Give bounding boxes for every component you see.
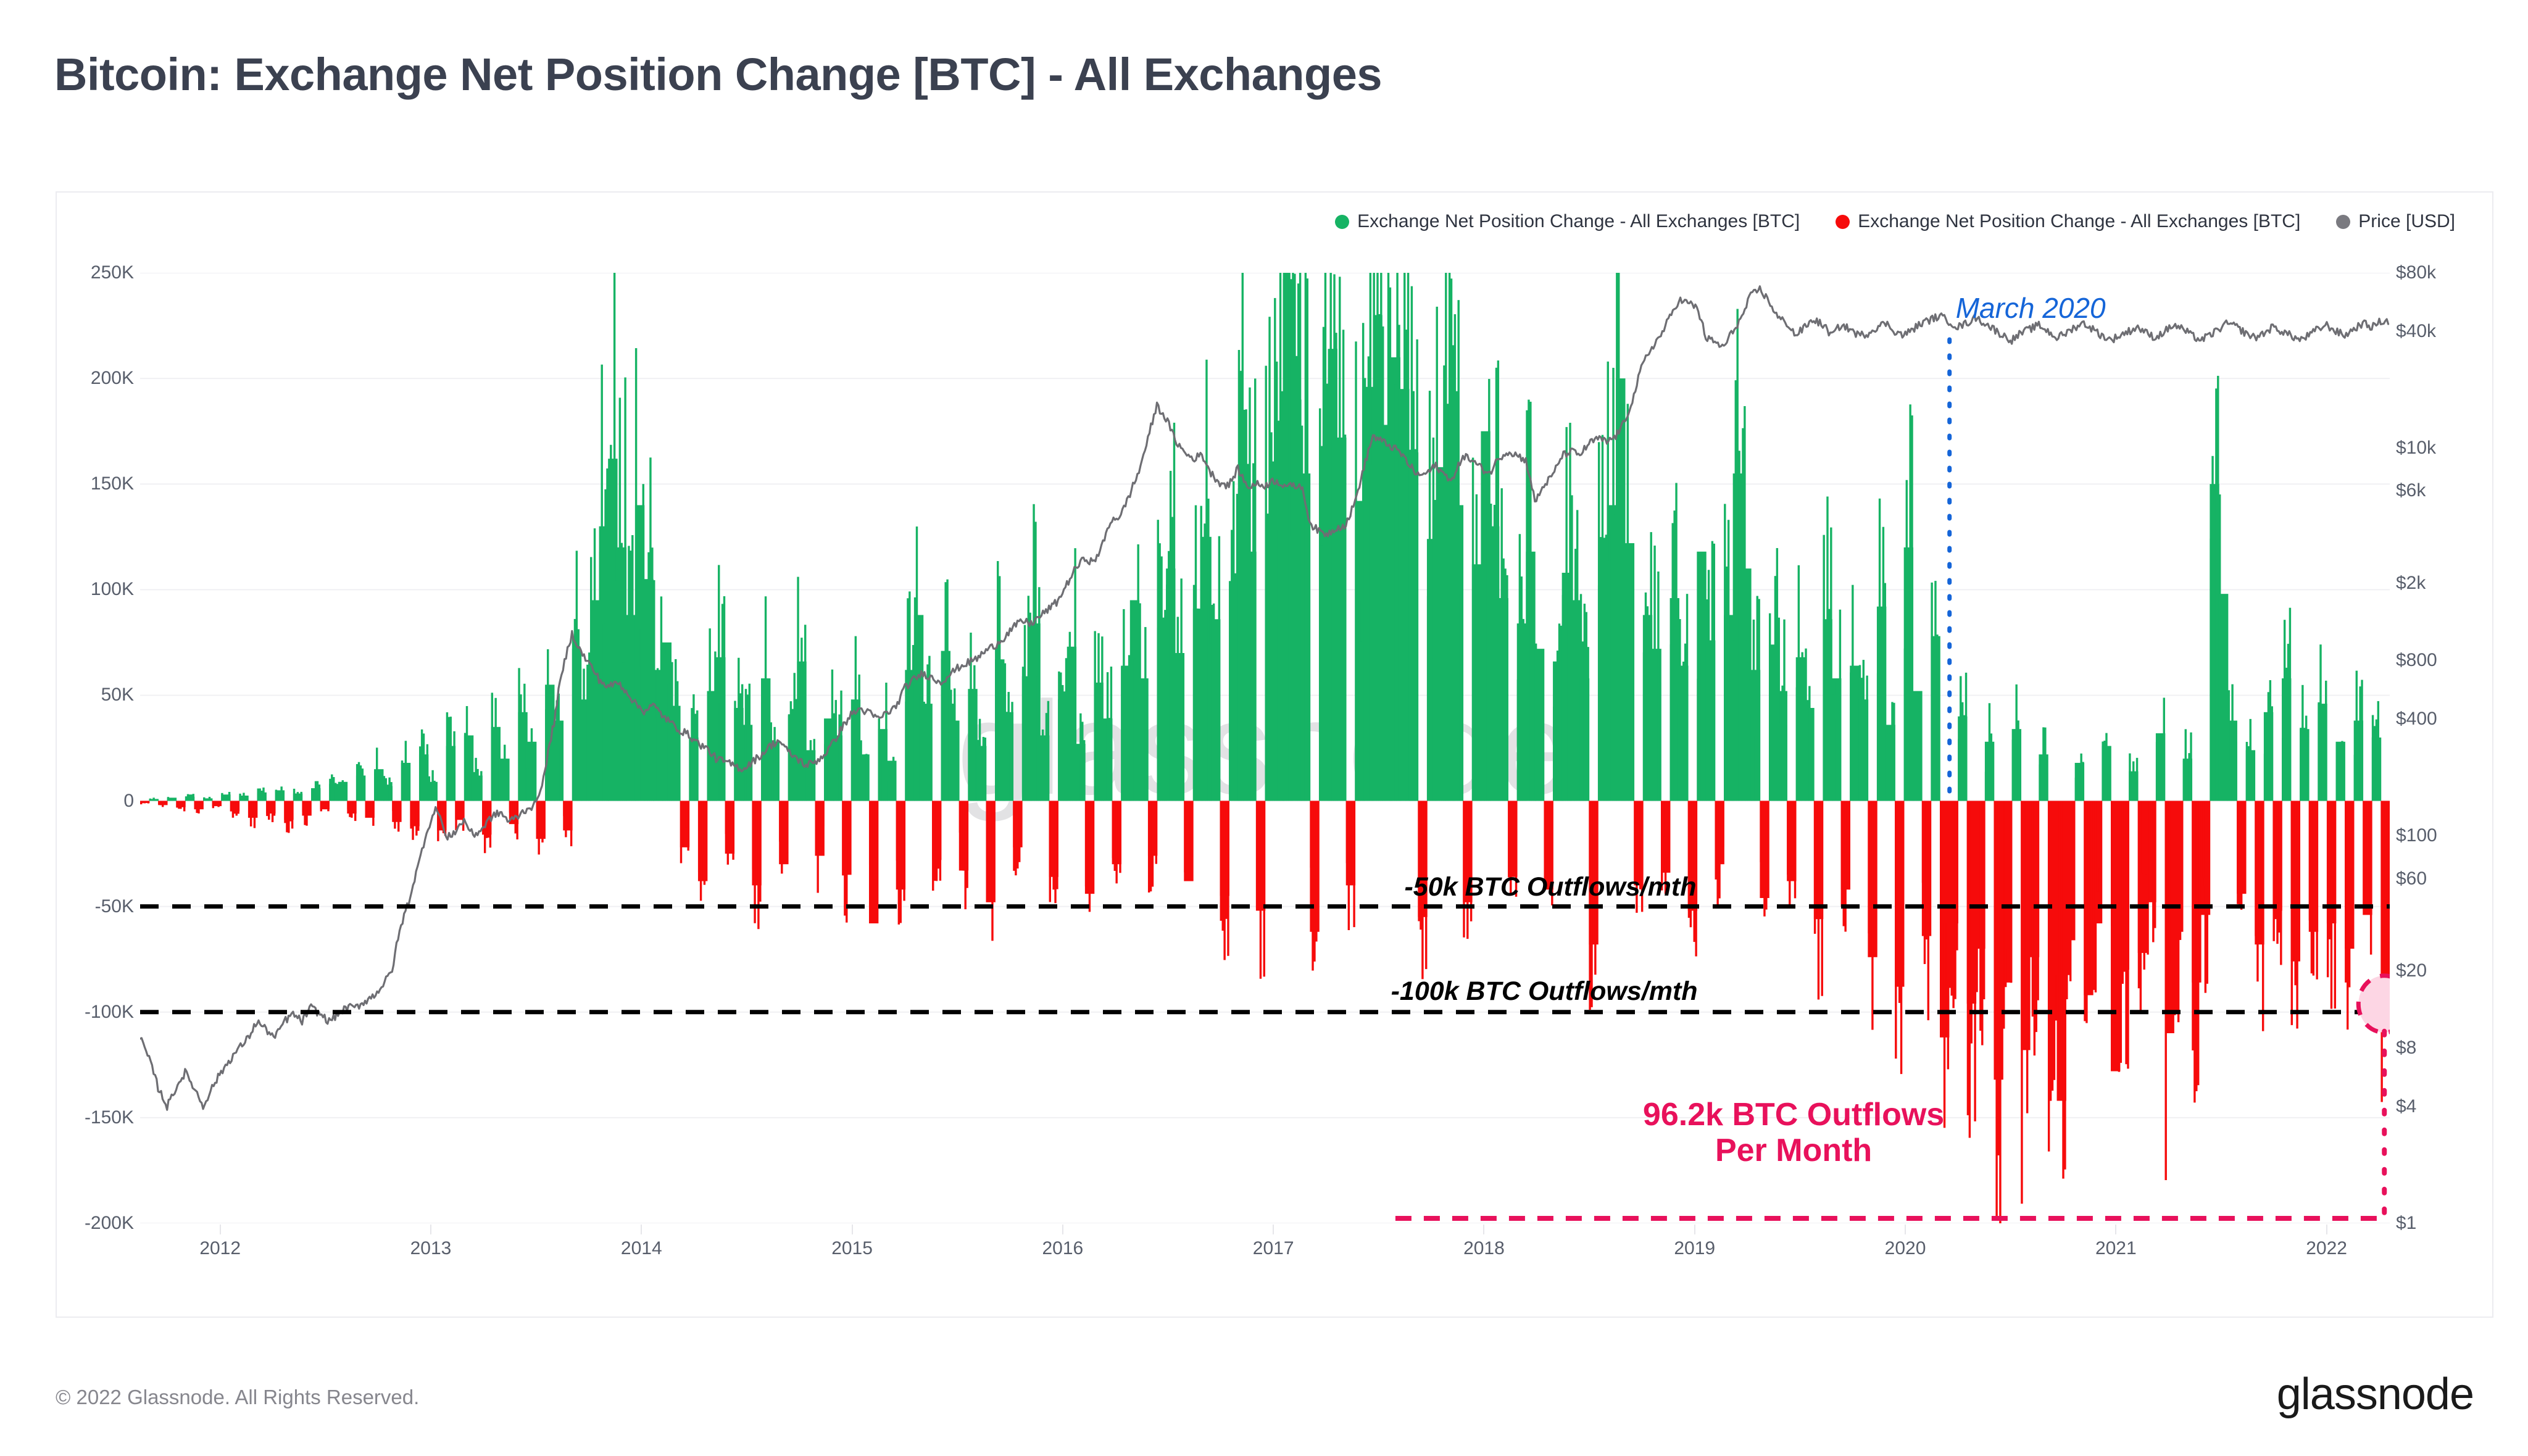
bar-detail [710,697,712,801]
y-axis-left-tick: 50K [101,684,134,705]
bar-detail [1123,609,1125,801]
legend-item[interactable]: Price [USD] [2336,211,2455,232]
bar-detail [1634,801,1636,881]
bar-detail [1063,691,1065,801]
bar-detail [995,648,997,801]
bar-detail [736,748,738,801]
bar-detail [2123,801,2125,972]
bar-detail [2060,801,2062,951]
bar-detail [2217,376,2219,801]
bar-detail [1627,404,1629,801]
bar-detail [673,741,675,801]
bar-detail [1006,712,1008,801]
bar-detail [1139,603,1141,801]
bar-detail [1931,583,1932,801]
bar-detail [1621,423,1623,801]
bar-detail [189,794,191,801]
bar-detail [2244,801,2246,857]
bar-detail [2323,741,2325,801]
bar-detail [1202,557,1204,801]
bar-detail [1034,522,1036,801]
bar-detail [1076,751,1078,801]
bar-detail [1373,273,1374,801]
bar-detail [1895,801,1897,1059]
bar-detail [686,801,688,828]
bar-detail [1902,801,1904,965]
bar-detail [1094,631,1096,801]
bar-detail [1963,715,1965,801]
bar-detail [1358,601,1360,801]
bar-detail [763,731,765,801]
bar-detail [1533,647,1535,801]
bar-detail [1103,754,1105,801]
bar-detail [272,801,273,822]
bar-detail [965,801,967,910]
bar-detail [1339,277,1341,801]
bar-detail [2053,801,2055,1080]
bar-detail [1179,661,1181,801]
bar-detail [197,801,199,813]
bar-detail [1932,668,1934,801]
bar-detail [1117,801,1119,862]
bar-detail [1576,510,1578,801]
bar-detail [1521,576,1523,801]
bar-detail [2255,801,2256,936]
x-axis-tick-label: 2020 [1885,1238,1926,1259]
bar-detail [1312,801,1313,971]
bar-detail [1630,607,1632,801]
bar-detail [2062,801,2064,1179]
bar-detail [2260,801,2262,944]
bar-detail [700,801,702,901]
bar-detail [1913,715,1915,801]
bar-detail [1733,640,1735,801]
bar-detail [1445,273,1447,801]
bar-detail [602,623,604,801]
bar-detail [2201,801,2203,886]
bar-detail [1121,667,1123,801]
bar-detail [1565,427,1567,801]
bar-detail [981,755,983,801]
bar-detail [1578,690,1580,801]
bar-detail [1915,743,1916,801]
bar-detail [1386,560,1387,801]
bar-detail [293,789,295,801]
bar-detail [273,801,275,816]
bar-detail [1749,680,1751,801]
bar-detail [1042,730,1044,801]
bar-detail [1425,801,1427,970]
bar-detail [1091,801,1092,867]
bar-detail [1553,707,1555,801]
bar-detail [907,598,908,801]
bar-detail [1158,543,1160,801]
bar-detail [1614,514,1616,801]
bar-detail [1144,627,1146,801]
bar-detail [372,801,374,826]
bar-detail [664,645,666,801]
bar-detail [2258,801,2260,930]
bar-detail [536,801,538,826]
bar-detail [288,801,289,833]
bar-detail [318,784,320,801]
bar-detail [1189,801,1191,859]
bar-detail [1321,546,1323,801]
bar-detail [2327,801,2329,978]
bar-detail [435,791,437,801]
bar-detail [2272,801,2274,941]
bar-detail [1592,801,1594,934]
bar-detail [2003,801,2005,1029]
bar-detail [2354,755,2356,801]
bar-detail [2177,801,2179,1023]
bar-detail [692,694,694,801]
bar-detail [626,624,628,801]
bar-detail [1044,763,1046,801]
bar-detail [1983,801,1985,1000]
bar-detail [1832,694,1834,801]
bar-detail [2085,801,2087,1023]
bar-detail [592,636,594,801]
bar-detail [1828,609,1830,801]
bar-detail [1805,649,1807,801]
bar-detail [558,694,560,801]
bar-detail [2384,801,2386,898]
bar-detail [572,636,574,801]
bar-detail [1787,801,1789,875]
bar-detail [829,744,831,801]
bar-detail [734,701,736,801]
bar-detail [453,731,455,801]
bar-detail [716,659,718,801]
bar-detail [2118,801,2120,1072]
bar-detail [2087,801,2089,895]
bar-detail [1886,749,1888,801]
red-dot-icon [1836,215,1850,229]
bar-detail [863,754,865,801]
bar-detail [2348,801,2350,988]
bar-detail [1355,341,1357,801]
bar-detail [376,747,378,801]
bar-detail [781,801,783,874]
bar-detail [1726,567,1728,801]
bar-detail [340,788,342,801]
bar-detail [1731,674,1733,801]
bar-detail [957,745,959,801]
bar-detail [1389,288,1391,801]
bar-detail [1441,508,1443,801]
bar-detail [1279,273,1281,801]
bar-detail [1513,801,1515,875]
bar-detail [1947,801,1949,1070]
bar-detail [455,801,457,831]
bar-detail [1101,636,1103,801]
bar-detail [2052,801,2053,1091]
bar-detail [559,748,561,801]
bar-detail [2179,801,2181,940]
bar-detail [655,717,657,801]
bar-detail [279,792,281,801]
bar-detail [1897,801,1898,918]
bar-detail [1882,527,1884,801]
bar-detail [1547,801,1549,872]
bar-detail [323,801,325,806]
bar-detail [851,720,853,801]
bar-detail [2336,770,2338,801]
bar-detail [635,348,637,801]
bar-detail [212,801,214,809]
legend-item[interactable]: Exchange Net Position Change - All Excha… [1335,211,1800,232]
bar-detail [1033,504,1034,801]
bar-detail [1824,668,1826,801]
bar-detail [1207,499,1209,801]
bar-detail [1846,801,1848,866]
bar-detail [1415,449,1416,801]
bar-detail [1225,801,1227,919]
bar-detail [2287,644,2289,801]
bar-detail [747,694,749,801]
bar-detail [2125,801,2127,1065]
bar-detail [199,801,201,807]
bar-detail [619,397,621,801]
bar-detail [955,738,957,801]
bar-detail [608,555,610,801]
bar-detail [2035,801,2037,1033]
bar-detail [2276,801,2278,944]
bar-detail [277,796,279,801]
bar-detail [1492,662,1494,801]
bar-detail [2208,801,2210,910]
bar-detail [759,801,761,902]
bar-detail [2341,741,2343,801]
bar-detail [991,801,993,941]
bar-detail [554,762,556,801]
bar-detail [2183,760,2185,801]
bar-detail [358,762,360,801]
bar-detail [1596,801,1598,883]
bar-detail [394,801,396,829]
bar-detail [1294,274,1295,801]
bar-detail [165,801,167,805]
bar-detail [2048,801,2050,1152]
bar-detail [2197,801,2199,1086]
bar-detail [973,665,975,801]
bar-detail [533,759,534,801]
bar-detail [2361,680,2363,801]
bar-detail [687,801,689,851]
bar-detail [1387,273,1389,801]
bar-detail [2098,801,2100,869]
bar-detail [2222,683,2224,801]
bar-detail [729,801,731,844]
bar-detail [1335,333,1337,801]
bar-detail [1839,610,1841,801]
y-axis-right-tick: $8 [2396,1038,2416,1059]
bar-detail [1211,605,1213,801]
bar-detail [327,801,329,812]
bar-detail [1519,534,1521,801]
bar-detail [1227,801,1229,956]
bar-detail [1079,713,1081,801]
bar-detail [1236,494,1238,801]
bar-detail [335,783,336,801]
bar-detail [1672,523,1674,801]
bar-detail [1067,717,1069,801]
bar-detail [1378,314,1380,801]
bar-detail [2131,781,2132,801]
bar-detail [1142,692,1144,801]
bar-detail [1844,801,1846,932]
bar-detail [1954,801,1956,999]
bar-detail [594,528,596,801]
bar-detail [1205,360,1207,801]
bar-detail [140,801,142,805]
bar-detail [653,580,655,801]
bar-detail [2066,801,2068,999]
bar-detail [568,801,570,830]
bar-detail [1760,801,1761,862]
bar-detail [590,557,592,801]
bar-detail [2311,801,2313,974]
bar-detail [1800,710,1802,801]
bar-detail [1357,662,1358,801]
y-axis-right-tick: $100 [2396,825,2437,846]
bar-detail [971,713,973,801]
bar-detail [1071,654,1073,801]
bar-detail [604,489,606,801]
bar-detail [1393,552,1395,801]
bar-detail [788,715,790,801]
bar-detail [1305,273,1307,801]
bar-detail [1470,801,1472,921]
bar-detail [2161,734,2163,801]
bar-detail [1879,499,1881,801]
bar-detail [2242,801,2244,878]
bar-detail [1490,504,1492,801]
bar-detail [2097,801,2098,892]
bar-detail [817,801,818,893]
bar-detail [176,801,178,808]
legend-item[interactable]: Exchange Net Position Change - All Excha… [1836,211,2300,232]
bar-detail [507,762,509,801]
bar-detail [1557,651,1558,801]
bar-detail [1297,283,1299,801]
bar-detail [230,801,232,812]
bar-detail [234,801,236,814]
bar-detail [1794,801,1796,899]
bar-detail [365,801,367,812]
bar-detail [201,801,203,806]
bar-detail [963,801,965,871]
bar-detail [2337,748,2339,801]
bar-detail [1429,391,1431,801]
bar-detail [2368,801,2370,876]
bar-detail [2188,753,2190,801]
bar-detail [256,801,257,814]
bar-detail [2079,766,2081,801]
bar-detail [1313,801,1315,962]
bar-detail [518,668,520,801]
chart-legend: Exchange Net Position Change - All Excha… [57,211,2492,232]
bar-detail [1096,710,1097,801]
bar-detail [1999,801,2001,1223]
bar-detail [1796,688,1798,801]
bar-detail [466,706,468,801]
bar-detail [2388,801,2390,918]
bar-detail [356,764,358,801]
bar-detail [1758,599,1760,801]
x-axis-tick-mark [1062,1225,1063,1234]
bar-detail [1995,801,1997,1217]
bar-detail [2150,801,2152,861]
bar-detail [291,801,293,829]
bar-detail [425,758,426,801]
bar-detail [538,801,539,855]
bar-detail [1549,801,1551,875]
bar-detail [1510,801,1511,894]
bar-detail [297,792,299,801]
bar-detail [1850,673,1852,801]
bar-detail [448,717,450,801]
bar-detail [952,704,954,801]
bar-detail [745,689,747,801]
bar-detail [628,546,630,801]
highlight-ellipse [2358,976,2390,1033]
bar-detail [1738,451,1740,801]
bar-detail [2358,751,2360,801]
bar-detail [1632,683,1634,801]
bar-detail [920,694,921,801]
bar-detail [1506,575,1508,801]
bar-detail [408,770,410,801]
bar-detail [615,581,617,801]
bar-detail [2210,539,2211,801]
bar-detail [315,781,317,801]
bar-detail [869,801,871,865]
y-axis-left-tick: -100K [85,1002,134,1023]
bar-detail [1218,536,1220,801]
bar-detail [1511,801,1513,851]
bar-detail [584,701,586,801]
bar-detail [1072,683,1074,801]
bar-detail [1452,345,1454,801]
bar-detail [1011,702,1013,801]
bar-detail [891,776,892,801]
bar-detail [333,777,335,801]
bar-detail [1315,801,1317,942]
bar-detail [266,801,268,817]
bar-detail [462,801,464,831]
bar-detail [828,762,829,801]
copyright-text: © 2022 Glassnode. All Rights Reserved. [56,1386,419,1409]
bar-detail [597,647,599,801]
bar-detail [1431,658,1432,801]
bar-detail [2142,801,2143,874]
bar-detail [1960,676,1961,801]
bar-detail [2040,755,2042,801]
bar-detail [1128,655,1130,801]
bar-detail [639,666,641,801]
bar-detail [1200,506,1202,801]
bar-detail [630,551,631,801]
bar-detail [1670,644,1672,801]
bar-detail [810,740,812,801]
bar-detail [2120,801,2122,1063]
bar-detail [1152,801,1154,887]
bar-detail [1841,801,1843,907]
bar-detail [1848,801,1850,859]
bar-detail [2303,728,2305,801]
